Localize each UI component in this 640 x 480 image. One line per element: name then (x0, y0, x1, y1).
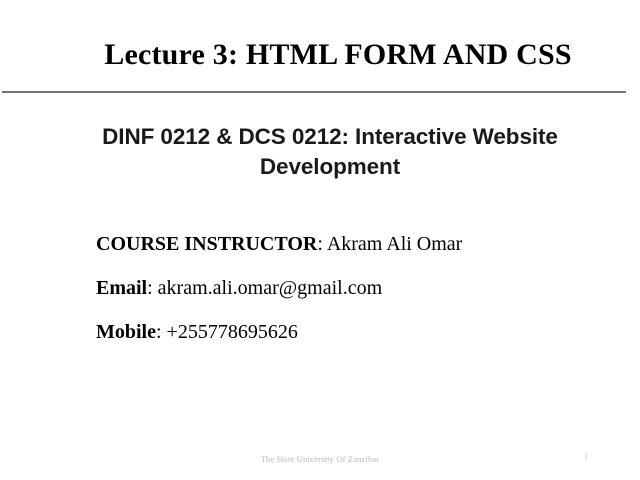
mobile-value: : +255778695626 (156, 321, 298, 343)
email-line: Email: akram.ali.omar@gmail.com (96, 276, 596, 300)
instructor-line: COURSE INSTRUCTOR: Akram Ali Omar (96, 232, 596, 256)
instructor-details: COURSE INSTRUCTOR: Akram Ali Omar Email:… (96, 232, 596, 344)
course-subtitle-line-2: Development (82, 152, 578, 182)
instructor-value: : Akram Ali Omar (317, 233, 462, 255)
footer-page-number: 1 (560, 452, 612, 464)
title-divider-rule (2, 91, 626, 93)
lecture-title-slide: Lecture 3: HTML FORM AND CSS DINF 0212 &… (0, 0, 640, 480)
instructor-label: COURSE INSTRUCTOR (96, 233, 317, 255)
mobile-label: Mobile (96, 321, 156, 343)
email-value: : akram.ali.omar@gmail.com (147, 277, 382, 299)
slide-title: Lecture 3: HTML FORM AND CSS (0, 38, 640, 72)
email-label: Email (96, 277, 147, 299)
footer-organization: The State University Of Zanzibar (0, 453, 640, 465)
course-subtitle: DINF 0212 & DCS 0212: Interactive Websit… (82, 122, 578, 182)
course-subtitle-line-1: DINF 0212 & DCS 0212: Interactive Websit… (82, 122, 578, 152)
mobile-line: Mobile: +255778695626 (96, 320, 596, 344)
